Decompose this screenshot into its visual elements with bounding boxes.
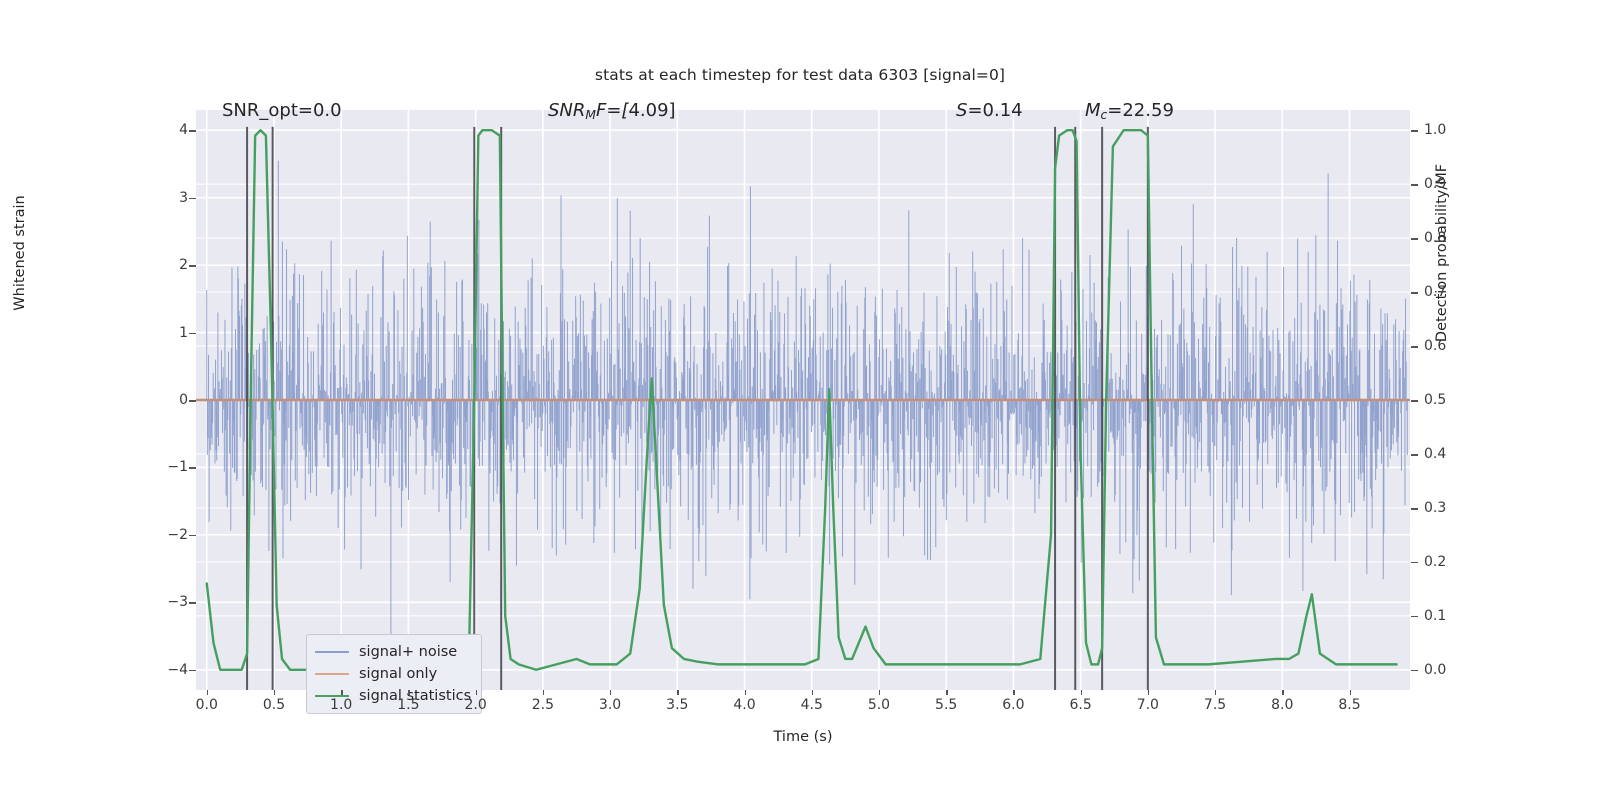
x-axis-label: Time (s) bbox=[196, 729, 1410, 745]
x-tick-mark-13 bbox=[1081, 690, 1082, 695]
x-tick-mark-16 bbox=[1282, 690, 1283, 695]
x-tick-label-15: 7.5 bbox=[1204, 697, 1226, 713]
x-tick-mark-8 bbox=[745, 690, 746, 695]
x-tick-label-2: 1.0 bbox=[330, 697, 352, 713]
annotation-snr-mf-value: 4.09 bbox=[628, 100, 668, 121]
y-tick-label-left-7: −3 bbox=[167, 594, 188, 610]
y-tick-mark-right-6 bbox=[1411, 454, 1418, 456]
y-tick-label-left-2: 2 bbox=[179, 257, 188, 273]
y-tick-mark-left-7 bbox=[189, 602, 196, 604]
y-tick-label-right-9: 0.1 bbox=[1424, 608, 1446, 624]
y-tick-mark-right-3 bbox=[1411, 292, 1418, 294]
annotation-s-eq: = bbox=[967, 100, 982, 121]
annotation-snr-mf-sub: M bbox=[585, 108, 596, 122]
y-tick-mark-left-8 bbox=[189, 670, 196, 672]
y-tick-mark-left-5 bbox=[189, 467, 196, 469]
x-tick-mark-15 bbox=[1215, 690, 1216, 695]
y-axis-label-left: Whitened strain bbox=[12, 133, 28, 373]
x-tick-label-5: 2.5 bbox=[532, 697, 554, 713]
annotation-mc-eq: = bbox=[1107, 100, 1122, 121]
annotation-snr-opt: SNR_opt=0.0 bbox=[222, 100, 342, 121]
y-tick-label-left-1: 3 bbox=[179, 190, 188, 206]
x-tick-label-9: 4.5 bbox=[801, 697, 823, 713]
y-tick-label-right-4: 0.6 bbox=[1424, 338, 1446, 354]
y-tick-label-right-10: 0.0 bbox=[1424, 662, 1446, 678]
y-axis-label-right: Detection probability/MF bbox=[1434, 133, 1450, 373]
y-tick-label-left-4: 0 bbox=[179, 392, 188, 408]
y-tick-mark-right-7 bbox=[1411, 508, 1418, 510]
y-tick-mark-right-9 bbox=[1411, 616, 1418, 618]
y-tick-mark-right-10 bbox=[1411, 670, 1418, 672]
x-tick-label-13: 6.5 bbox=[1069, 697, 1091, 713]
annotation-mc-value: 22.59 bbox=[1122, 100, 1174, 121]
y-tick-mark-right-4 bbox=[1411, 346, 1418, 348]
x-tick-mark-5 bbox=[543, 690, 544, 695]
y-tick-label-right-6: 0.4 bbox=[1424, 446, 1446, 462]
y-tick-label-right-2: 0.8 bbox=[1424, 230, 1446, 246]
y-tick-mark-right-5 bbox=[1411, 400, 1418, 402]
x-tick-mark-2 bbox=[341, 690, 342, 695]
x-tick-label-7: 3.5 bbox=[666, 697, 688, 713]
legend-item-1[interactable]: signal only bbox=[315, 663, 471, 685]
y-tick-label-right-1: 0.9 bbox=[1424, 176, 1446, 192]
x-tick-label-8: 4.0 bbox=[733, 697, 755, 713]
x-tick-mark-11 bbox=[946, 690, 947, 695]
y-tick-mark-left-0 bbox=[189, 130, 196, 132]
legend-label-0: signal+ noise bbox=[359, 644, 457, 660]
x-tick-label-14: 7.0 bbox=[1137, 697, 1159, 713]
annotation-snr-mf-mid: F=[ bbox=[596, 100, 628, 121]
annotation-mc-symbol: M bbox=[1085, 100, 1101, 121]
annotation-snr-mf: SNRMF=[4.09] bbox=[548, 100, 676, 122]
signal-plus-noise-series bbox=[207, 161, 1408, 664]
x-tick-label-12: 6.0 bbox=[1002, 697, 1024, 713]
x-tick-label-10: 5.0 bbox=[868, 697, 890, 713]
y-tick-label-left-0: 4 bbox=[179, 122, 188, 138]
legend-swatch-1 bbox=[315, 673, 349, 675]
x-tick-label-16: 8.0 bbox=[1271, 697, 1293, 713]
legend-item-0[interactable]: signal+ noise bbox=[315, 641, 471, 663]
y-tick-label-right-7: 0.3 bbox=[1424, 500, 1446, 516]
y-tick-label-left-6: −2 bbox=[167, 527, 188, 543]
y-tick-label-right-5: 0.5 bbox=[1424, 392, 1446, 408]
x-tick-label-4: 2.0 bbox=[464, 697, 486, 713]
plot-area bbox=[196, 110, 1410, 690]
annotation-snr-opt-label: SNR_opt= bbox=[222, 100, 313, 121]
x-tick-mark-0 bbox=[207, 690, 208, 695]
y-tick-label-left-5: −1 bbox=[167, 459, 188, 475]
annotation-mc: Mc=22.59 bbox=[1085, 100, 1174, 122]
y-tick-mark-right-0 bbox=[1411, 130, 1418, 132]
x-tick-label-17: 8.5 bbox=[1338, 697, 1360, 713]
y-tick-mark-left-1 bbox=[189, 198, 196, 200]
y-tick-mark-right-2 bbox=[1411, 238, 1418, 240]
x-tick-mark-10 bbox=[879, 690, 880, 695]
y-tick-label-right-3: 0.7 bbox=[1424, 284, 1446, 300]
annotation-snr-opt-value: 0.0 bbox=[313, 100, 342, 121]
y-tick-mark-left-4 bbox=[189, 400, 196, 402]
plot-svg bbox=[196, 110, 1410, 690]
y-tick-mark-left-2 bbox=[189, 265, 196, 267]
annotation-s-symbol: S bbox=[956, 100, 967, 121]
y-tick-label-right-0: 1.0 bbox=[1424, 122, 1446, 138]
figure-canvas: stats at each timestep for test data 630… bbox=[0, 0, 1600, 800]
y-tick-label-right-8: 0.2 bbox=[1424, 554, 1446, 570]
y-tick-mark-left-6 bbox=[189, 535, 196, 537]
y-tick-label-left-8: −4 bbox=[167, 662, 188, 678]
legend-swatch-0 bbox=[315, 651, 349, 653]
x-tick-mark-6 bbox=[610, 690, 611, 695]
x-tick-label-1: 0.5 bbox=[263, 697, 285, 713]
x-tick-mark-7 bbox=[677, 690, 678, 695]
x-tick-label-0: 0.0 bbox=[196, 697, 218, 713]
annotation-snr-mf-suffix: ] bbox=[669, 100, 676, 121]
y-tick-mark-right-8 bbox=[1411, 562, 1418, 564]
annotation-snr-mf-prefix: SNR bbox=[548, 100, 585, 121]
y-tick-label-left-3: 1 bbox=[179, 325, 188, 341]
annotation-s-value: 0.14 bbox=[983, 100, 1023, 121]
legend-label-1: signal only bbox=[359, 666, 437, 682]
x-tick-mark-3 bbox=[408, 690, 409, 695]
page-title: stats at each timestep for test data 630… bbox=[0, 66, 1600, 84]
x-tick-mark-4 bbox=[476, 690, 477, 695]
x-tick-label-3: 1.5 bbox=[397, 697, 419, 713]
x-tick-mark-17 bbox=[1350, 690, 1351, 695]
x-tick-label-11: 5.5 bbox=[935, 697, 957, 713]
x-tick-mark-1 bbox=[274, 690, 275, 695]
x-tick-label-6: 3.0 bbox=[599, 697, 621, 713]
x-tick-mark-14 bbox=[1148, 690, 1149, 695]
x-tick-mark-9 bbox=[812, 690, 813, 695]
y-tick-mark-left-3 bbox=[189, 333, 196, 335]
x-tick-mark-12 bbox=[1013, 690, 1014, 695]
annotation-s: S=0.14 bbox=[956, 100, 1023, 121]
y-tick-mark-right-1 bbox=[1411, 184, 1418, 186]
